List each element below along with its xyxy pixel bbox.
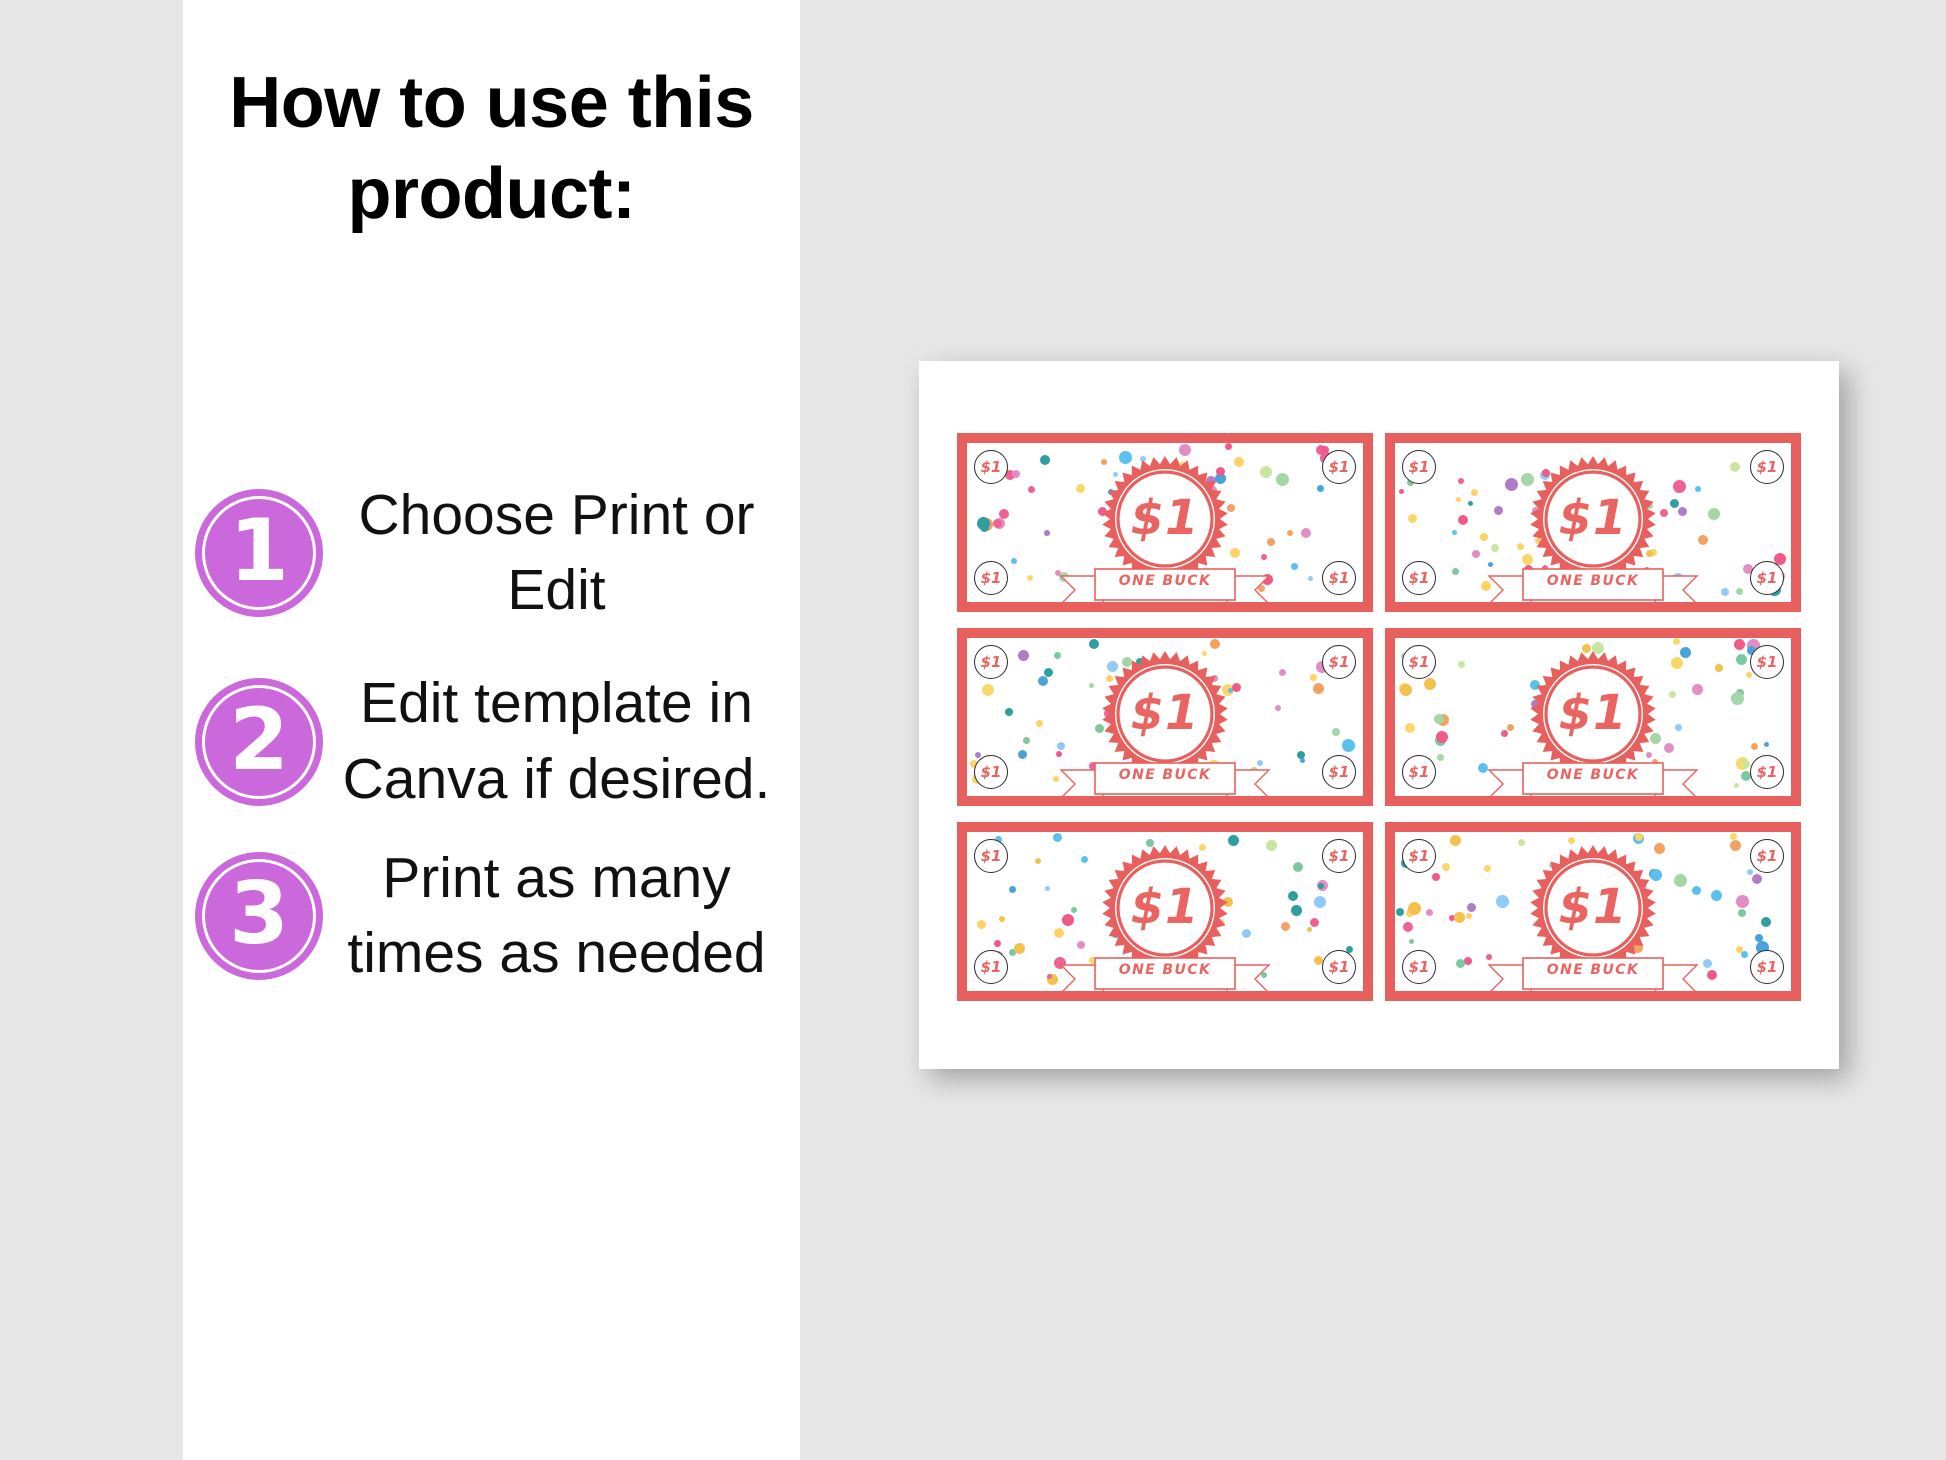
step-badge-2: 2 — [195, 678, 323, 806]
corner-value-icon: $1 — [1750, 450, 1784, 484]
bill-face: $1$1$1$1$1ONE BUCK — [1395, 443, 1791, 602]
corner-value-icon: $1 — [1322, 450, 1356, 484]
corner-value-icon: $1 — [1750, 950, 1784, 984]
step-text-2: Edit template in Canva if desired. — [323, 666, 800, 816]
money-bill: $1$1$1$1$1ONE BUCK — [1385, 628, 1801, 807]
ribbon-label: ONE BUCK — [1059, 962, 1271, 978]
corner-value-icon: $1 — [1750, 561, 1784, 595]
ribbon-banner-icon: ONE BUCK — [1059, 955, 1271, 991]
product-preview: $1$1$1$1$1ONE BUCK$1$1$1$1$1ONE BUCK$1$1… — [919, 361, 1839, 1069]
corner-value-icon: $1 — [1402, 450, 1436, 484]
bill-grid: $1$1$1$1$1ONE BUCK$1$1$1$1$1ONE BUCK$1$1… — [957, 433, 1801, 1001]
step-number-3: 3 — [195, 852, 323, 980]
ribbon-label: ONE BUCK — [1487, 962, 1699, 978]
bill-value-label: $1 — [1101, 455, 1229, 583]
corner-value-icon: $1 — [1402, 645, 1436, 679]
corner-value-icon: $1 — [974, 450, 1008, 484]
step-number-1: 1 — [195, 489, 323, 617]
money-bill: $1$1$1$1$1ONE BUCK — [957, 822, 1373, 1001]
corner-value-icon: $1 — [1750, 645, 1784, 679]
ribbon-label: ONE BUCK — [1487, 573, 1699, 589]
ribbon-banner-icon: ONE BUCK — [1487, 760, 1699, 796]
step-item-3: 3 Print as many times as needed — [183, 841, 800, 991]
bill-value-label: $1 — [1529, 650, 1657, 778]
bill-value-label: $1 — [1529, 844, 1657, 972]
step-item-1: 1 Choose Print or Edit — [183, 478, 800, 628]
bill-value-label: $1 — [1101, 650, 1229, 778]
money-bill: $1$1$1$1$1ONE BUCK — [957, 433, 1373, 612]
bill-face: $1$1$1$1$1ONE BUCK — [1395, 638, 1791, 797]
step-number-2: 2 — [195, 678, 323, 806]
money-bill: $1$1$1$1$1ONE BUCK — [957, 628, 1373, 807]
corner-value-icon: $1 — [974, 950, 1008, 984]
step-badge-3: 3 — [195, 852, 323, 980]
ribbon-banner-icon: ONE BUCK — [1487, 955, 1699, 991]
starburst-seal-icon: $1 — [1529, 650, 1657, 778]
printable-sheet: $1$1$1$1$1ONE BUCK$1$1$1$1$1ONE BUCK$1$1… — [919, 361, 1839, 1069]
step-item-2: 2 Edit template in Canva if desired. — [183, 666, 800, 816]
bill-value-label: $1 — [1529, 455, 1657, 583]
starburst-seal-icon: $1 — [1101, 455, 1229, 583]
starburst-seal-icon: $1 — [1529, 455, 1657, 583]
corner-value-icon: $1 — [1402, 950, 1436, 984]
steps-list: 1 Choose Print or Edit 2 Edit template i… — [183, 478, 800, 1009]
starburst-seal-icon: $1 — [1529, 844, 1657, 972]
ribbon-banner-icon: ONE BUCK — [1059, 566, 1271, 602]
step-badge-1: 1 — [195, 489, 323, 617]
page-title: How to use this product: — [183, 58, 800, 239]
bill-face: $1$1$1$1$1ONE BUCK — [967, 832, 1363, 991]
corner-value-icon: $1 — [974, 561, 1008, 595]
ribbon-banner-icon: ONE BUCK — [1487, 566, 1699, 602]
bill-value-label: $1 — [1101, 844, 1229, 972]
corner-value-icon: $1 — [1322, 645, 1356, 679]
step-text-1: Choose Print or Edit — [323, 478, 800, 628]
info-panel: How to use this product: 1 Choose Print … — [183, 0, 800, 1460]
bill-face: $1$1$1$1$1ONE BUCK — [1395, 832, 1791, 991]
bill-face: $1$1$1$1$1ONE BUCK — [967, 638, 1363, 797]
money-bill: $1$1$1$1$1ONE BUCK — [1385, 822, 1801, 1001]
starburst-seal-icon: $1 — [1101, 844, 1229, 972]
step-text-3: Print as many times as needed — [323, 841, 800, 991]
ribbon-label: ONE BUCK — [1059, 573, 1271, 589]
money-bill: $1$1$1$1$1ONE BUCK — [1385, 433, 1801, 612]
ribbon-label: ONE BUCK — [1059, 767, 1271, 783]
bill-face: $1$1$1$1$1ONE BUCK — [967, 443, 1363, 602]
corner-value-icon: $1 — [1402, 561, 1436, 595]
corner-value-icon: $1 — [974, 645, 1008, 679]
starburst-seal-icon: $1 — [1101, 650, 1229, 778]
ribbon-banner-icon: ONE BUCK — [1059, 760, 1271, 796]
ribbon-label: ONE BUCK — [1487, 767, 1699, 783]
corner-value-icon: $1 — [1322, 561, 1356, 595]
corner-value-icon: $1 — [1322, 950, 1356, 984]
